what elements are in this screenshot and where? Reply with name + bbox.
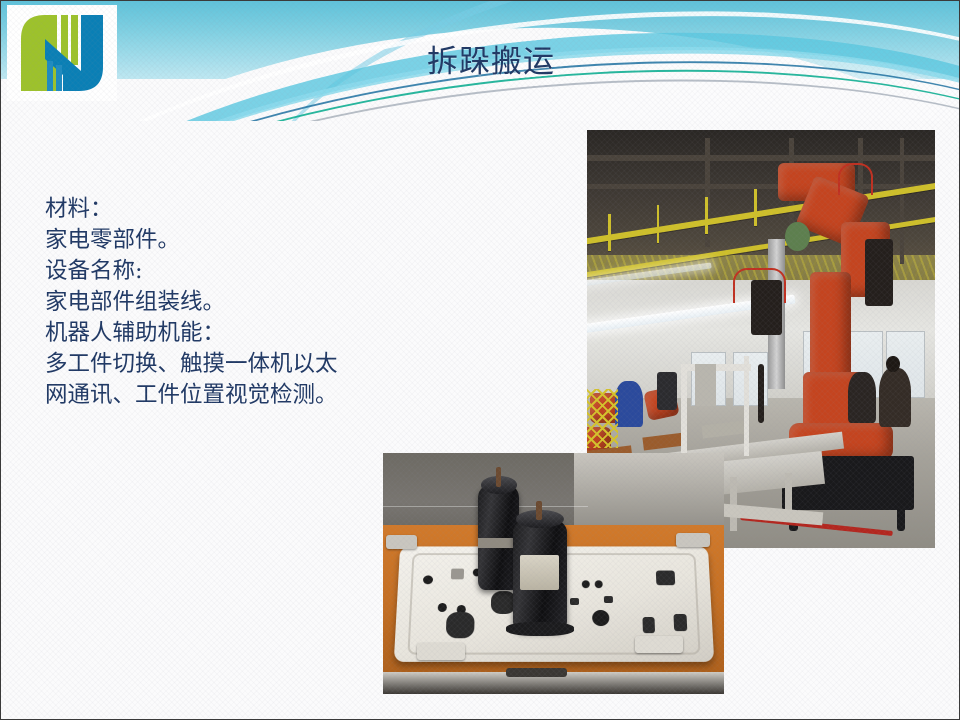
fixture-corner-block (386, 535, 417, 549)
worker-dark (848, 372, 876, 422)
chassis-pad (673, 614, 686, 630)
compressor-discharge-pipe (496, 467, 501, 486)
robot-cable (733, 268, 786, 303)
chassis-hole (423, 575, 433, 584)
body-text-block: 材料： 家电零部件。 设备名称: 家电部件组装线。 机器人辅助机能： 多工件切换… (45, 194, 355, 411)
slide: 拆跺搬运 材料： 家电零部件。 设备名称: 家电部件组装线。 机器人辅助机能： … (0, 0, 960, 720)
chassis-hole (581, 580, 589, 588)
chassis-pad (656, 571, 675, 586)
compressor-discharge-pipe (536, 501, 541, 520)
pedestal-leg (897, 489, 906, 531)
page-title: 拆跺搬运 (331, 45, 651, 79)
fixture-clamp-foot (635, 636, 683, 653)
control-cabinet (657, 372, 678, 410)
chassis-stud (451, 568, 464, 578)
fixture-corner-block (676, 533, 710, 547)
safety-fence (587, 389, 618, 448)
handrail-post (608, 214, 611, 252)
chassis-rubber-grommet (446, 612, 475, 638)
gripper-finger (758, 364, 765, 423)
machine-frame-crossbar (681, 364, 751, 371)
chassis-large-hole (591, 609, 609, 625)
company-logo-icon (7, 5, 117, 101)
servo-motor (785, 222, 809, 251)
robot-cable (838, 163, 873, 194)
electrical-box (695, 364, 716, 406)
compressor-spec-label (520, 555, 559, 590)
compressor-front (513, 516, 568, 632)
ceiling-column (900, 138, 904, 263)
handrail-post (657, 205, 660, 243)
ceiling-beam (587, 184, 935, 188)
company-logo[interactable] (7, 5, 117, 101)
machine-frame-upright (744, 356, 750, 456)
worker-dark (879, 368, 910, 427)
tool-changer (865, 239, 893, 306)
handrail-post (754, 189, 757, 227)
chassis-hole (594, 580, 602, 588)
chassis-hole (437, 602, 447, 611)
handrail-post (705, 197, 708, 235)
chassis-pad (642, 616, 655, 632)
compressor-mount-foot (506, 622, 574, 636)
table-edge-strip (506, 668, 567, 678)
worker-blue (615, 381, 643, 427)
fixture-clamp-foot (417, 643, 465, 660)
chassis-slot (604, 596, 614, 603)
compressor-chassis-photo (383, 453, 724, 694)
ceiling-beam (587, 155, 935, 161)
chassis-slot (569, 598, 578, 605)
background-bench (574, 453, 724, 535)
